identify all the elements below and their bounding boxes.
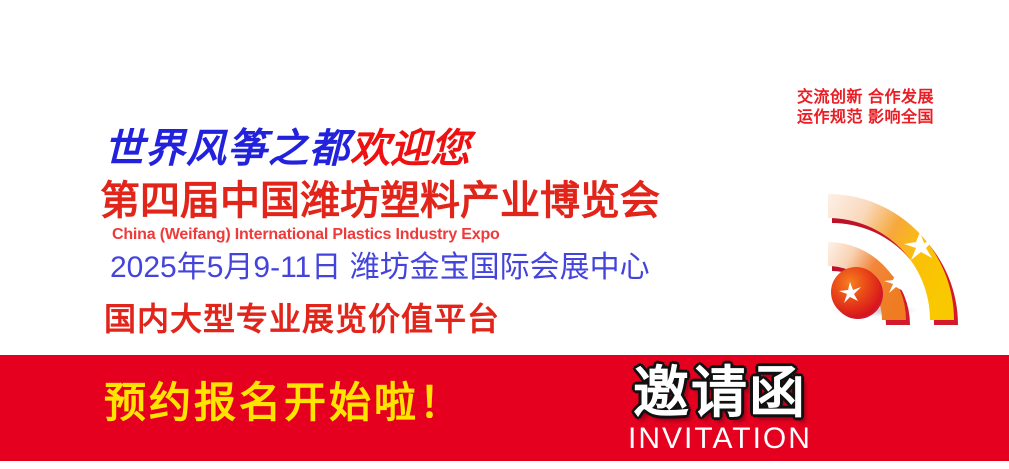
cta-registration-text: 预约报名开始啦！ — [104, 378, 464, 428]
invitation-title-cn: 邀请函 — [600, 362, 840, 424]
slogan-line-2: 运作规范 影响全国 — [797, 108, 977, 128]
poster-canvas: 交流创新 合作发展 运作规范 影响全国 世界风筝之都欢迎您 第四届中国潍坊塑料产… — [0, 0, 1009, 469]
expo-title-en: China (Weifang) International Plastics I… — [112, 225, 500, 244]
bottom-white-strip — [0, 461, 1009, 469]
date-venue-line: 2025年5月9-11日 潍坊金宝国际会展中心 — [110, 248, 650, 288]
expo-title-cn: 第四届中国潍坊塑料产业博览会 — [100, 178, 660, 224]
calligraphy-welcome-text: 欢迎您 — [350, 125, 470, 172]
calligraphy-headline: 世界风筝之都欢迎您 — [104, 124, 470, 174]
slogan-line-1: 交流创新 合作发展 — [797, 88, 977, 108]
invitation-title-en: INVITATION — [600, 422, 840, 456]
invitation-block: 邀请函 INVITATION — [600, 362, 840, 456]
value-platform-tagline: 国内大型专业展览价值平台 — [104, 298, 500, 340]
slogan-block: 交流创新 合作发展 运作规范 影响全国 — [797, 88, 977, 128]
calligraphy-city-text: 世界风筝之都 — [104, 125, 350, 172]
wifi-signal-logo — [822, 170, 982, 325]
